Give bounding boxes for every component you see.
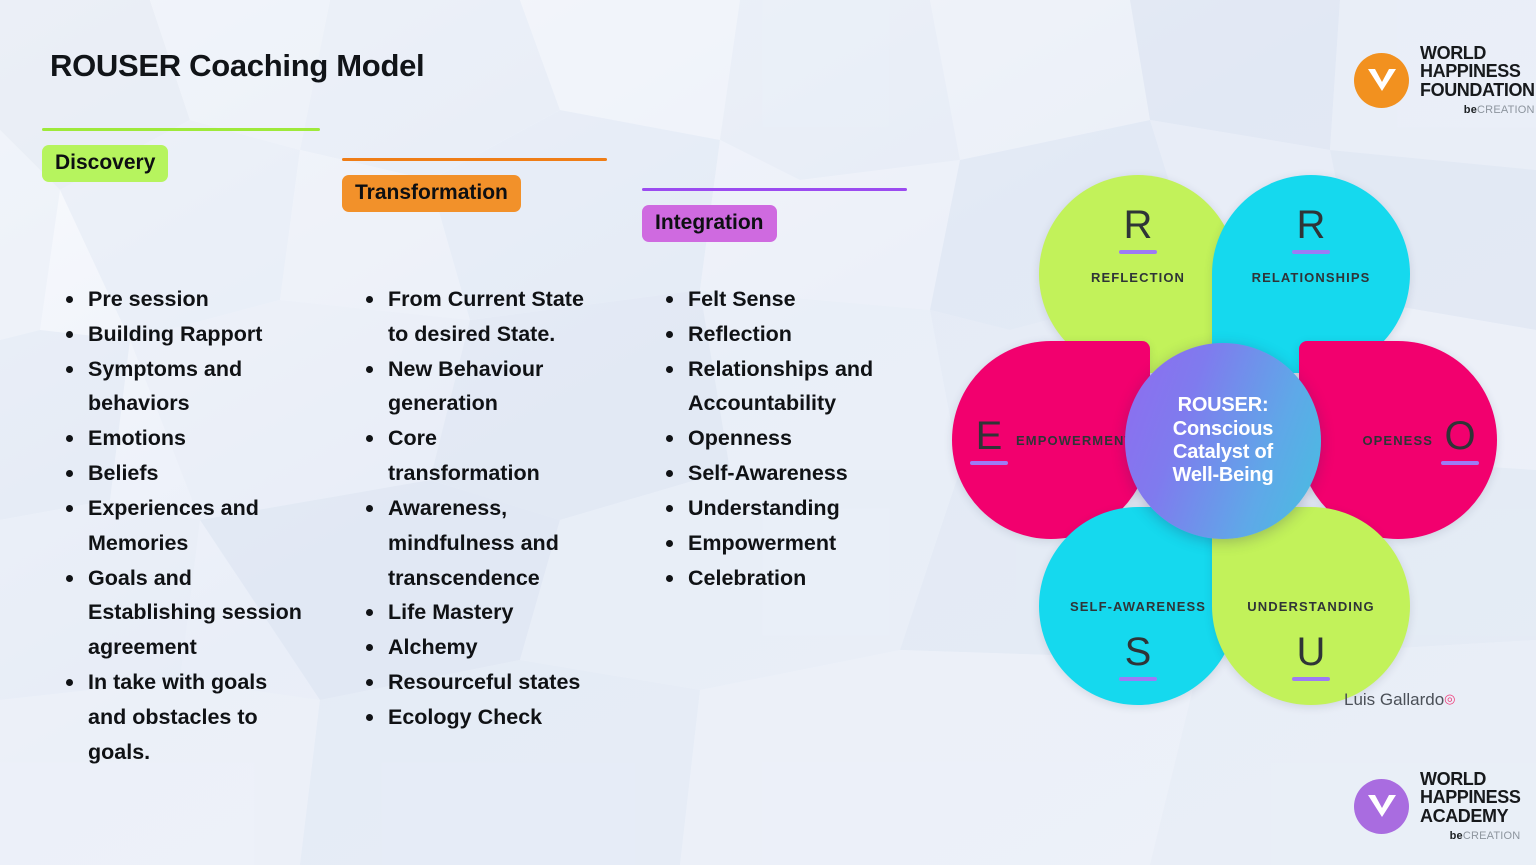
list-item: Pre session	[52, 282, 302, 317]
attribution-name: Luis Gallardo	[1344, 690, 1444, 709]
badge-transformation[interactable]: Transformation	[342, 175, 521, 212]
list-discovery: Pre sessionBuilding RapportSymptoms and …	[52, 282, 302, 770]
petal-letter-understanding: U	[1292, 632, 1330, 672]
list-item: Empowerment	[652, 526, 897, 561]
attribution: Luis Gallardo◎	[1344, 690, 1456, 710]
petal-letter-openess: O	[1441, 416, 1479, 456]
list-item: Reflection	[652, 317, 897, 352]
petal-letter-self-awareness: S	[1119, 632, 1157, 672]
petal-label-understanding: UNDERSTANDING	[1247, 599, 1374, 614]
logo-tagline-be: be	[1450, 830, 1463, 842]
logo-line-3: ACADEMY	[1420, 807, 1520, 825]
logo-line-1: WORLD	[1420, 44, 1535, 62]
petal-underline-reflection	[1119, 250, 1157, 254]
column-header-transformation: Transformation	[342, 158, 607, 212]
logo-line-1: WORLD	[1420, 770, 1520, 788]
list-item: New Behaviour generation	[352, 352, 587, 422]
list-item: Alchemy	[352, 630, 587, 665]
list-item: Building Rapport	[52, 317, 302, 352]
bullet-list-integration: Felt SenseReflectionRelationships and Ac…	[652, 282, 897, 595]
petal-underline-empowerment	[970, 461, 1008, 465]
list-item: Goals and Establishing session agreement	[52, 561, 302, 665]
petal-label-self-awareness: SELF-AWARENESS	[1070, 599, 1206, 614]
logo-line-3: FOUNDATION	[1420, 81, 1535, 99]
petal-letter-empowerment: E	[970, 416, 1008, 456]
list-item: Experiences and Memories	[52, 491, 302, 561]
list-item: Awareness, mindfulness and transcendence	[352, 491, 587, 595]
slide-canvas: ROUSER Coaching Model Discovery Transfor…	[0, 0, 1536, 865]
logo-line-2: HAPPINESS	[1420, 788, 1520, 806]
logo-tagline-be: be	[1464, 104, 1477, 116]
list-item: Ecology Check	[352, 700, 587, 735]
column-header-discovery: Discovery	[42, 128, 320, 182]
bullet-list-transformation: From Current State to desired State.New …	[352, 282, 587, 735]
logo-world-happiness-foundation: WORLD HAPPINESS FOUNDATION beCREATION	[1354, 44, 1535, 116]
list-integration: Felt SenseReflectionRelationships and Ac…	[652, 282, 897, 595]
list-item: Emotions	[52, 421, 302, 456]
attribution-mark-icon: ◎	[1444, 691, 1455, 706]
petal-letter-relationships: R	[1292, 205, 1330, 245]
list-item: From Current State to desired State.	[352, 282, 587, 352]
list-item: Symptoms and behaviors	[52, 352, 302, 422]
list-item: Relationships and Accountability	[652, 352, 897, 422]
petal-underline-self-awareness	[1119, 677, 1157, 681]
list-item: Life Mastery	[352, 595, 587, 630]
petal-label-empowerment: EMPOWERMENT	[1016, 433, 1134, 448]
list-item: Self-Awareness	[652, 456, 897, 491]
badge-integration[interactable]: Integration	[642, 205, 777, 242]
logo-tagline: beCREATION	[1450, 831, 1521, 842]
list-item: Core transformation	[352, 421, 587, 491]
list-item: Understanding	[652, 491, 897, 526]
list-item: Celebration	[652, 561, 897, 596]
list-item: Felt Sense	[652, 282, 897, 317]
logo-tagline-creation: CREATION	[1463, 830, 1521, 842]
bullet-list-discovery: Pre sessionBuilding RapportSymptoms and …	[52, 282, 302, 770]
logo-line-2: HAPPINESS	[1420, 62, 1535, 80]
column-rule-discovery	[42, 128, 320, 131]
list-item: In take with goals and obstacles to goal…	[52, 665, 302, 769]
heart-chevron-icon	[1354, 53, 1409, 108]
petal-letter-reflection: R	[1119, 205, 1157, 245]
petal-label-relationships: RELATIONSHIPS	[1252, 270, 1371, 285]
petal-label-openess: OPENESS	[1362, 433, 1433, 448]
petal-underline-relationships	[1292, 250, 1330, 254]
column-rule-transformation	[342, 158, 607, 161]
petal-underline-understanding	[1292, 677, 1330, 681]
rouser-flower-diagram: R REFLECTION R RELATIONSHIPS	[940, 175, 1520, 705]
petal-underline-openess	[1441, 461, 1479, 465]
logo-tagline: beCREATION	[1464, 105, 1535, 116]
column-rule-integration	[642, 188, 907, 191]
list-item: Beliefs	[52, 456, 302, 491]
list-item: Resourceful states	[352, 665, 587, 700]
page-title: ROUSER Coaching Model	[50, 48, 424, 84]
column-header-integration: Integration	[642, 188, 907, 242]
logo-world-happiness-academy: WORLD HAPPINESS ACADEMY beCREATION	[1354, 770, 1520, 842]
list-item: Openness	[652, 421, 897, 456]
logo-tagline-creation: CREATION	[1477, 104, 1535, 116]
flower-hub[interactable]: ROUSER:ConsciousCatalyst ofWell-Being	[1125, 343, 1321, 539]
flower-hub-text: ROUSER:ConsciousCatalyst ofWell-Being	[1173, 394, 1274, 488]
badge-discovery[interactable]: Discovery	[42, 145, 168, 182]
list-transformation: From Current State to desired State.New …	[352, 282, 587, 735]
heart-chevron-icon	[1354, 779, 1409, 834]
petal-label-reflection: REFLECTION	[1091, 270, 1185, 285]
